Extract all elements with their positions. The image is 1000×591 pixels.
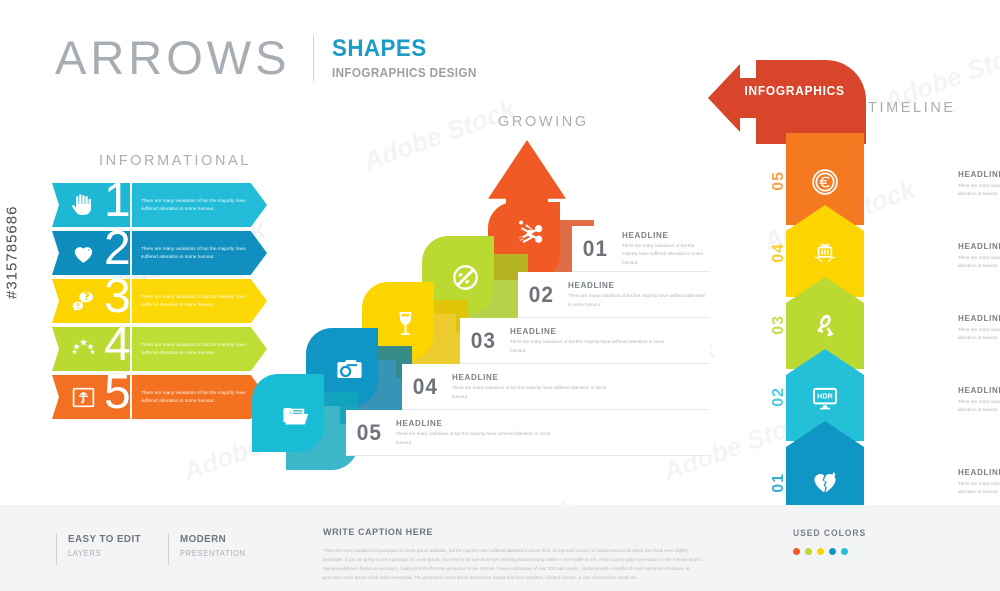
informational-row-number: 2 — [104, 225, 130, 273]
section-title-growing: GROWING — [498, 114, 589, 130]
footer-item-title: MODERN — [180, 533, 246, 545]
informational-row[interactable]: There are many variations of but the maj… — [52, 375, 267, 419]
heart-icon — [70, 240, 96, 266]
page-header: ARROWS SHAPES INFOGRAPHICS DESIGN — [55, 34, 492, 81]
growing-step-text: HEADLINEThere are many variations of but… — [622, 230, 710, 266]
euro-coin-icon — [810, 167, 840, 197]
timeline-arrow-number: 04 — [770, 243, 788, 263]
timeline-text-block: HEADLINEThere are many variations of but… — [958, 241, 1000, 271]
informational-row-text: There are many variations of but the maj… — [132, 293, 267, 309]
timeline-hook-arrow: INFOGRAPHICS — [708, 60, 866, 144]
hdr-monitor-icon: HDR — [810, 383, 840, 413]
informational-row[interactable]: There are many variations of but the maj… — [52, 231, 267, 275]
footer-item-easy-to-edit: EASY TO EDIT LAYERS — [68, 533, 147, 558]
informational-row-text: There are many variations of but the maj… — [132, 197, 267, 213]
footer-item-title: EASY TO EDIT — [68, 533, 141, 545]
informational-row-number: 5 — [104, 369, 130, 417]
informational-row-text: There are many variations of but the maj… — [132, 341, 267, 357]
infographic-canvas: Adobe Stock Adobe Stock Adobe Stock Adob… — [0, 0, 1000, 591]
footer-divider — [56, 533, 57, 565]
growing-step-headline: HEADLINE — [568, 280, 703, 290]
growing-step-panel: 02HEADLINEThere are many variations of b… — [518, 272, 710, 318]
camera-icon — [334, 354, 364, 384]
informational-row[interactable]: There are many variations of but the maj… — [52, 183, 267, 227]
growing-step-panel: 04HEADLINEThere are many variations of b… — [402, 364, 710, 410]
footer-item-sub: PRESENTATION — [180, 549, 246, 558]
color-swatch — [793, 548, 800, 555]
footer-divider — [168, 533, 169, 565]
timeline-text-block: HEADLINEThere are many variations of but… — [958, 467, 1000, 497]
growing-step-panel: 01HEADLINEThere are many variations of b… — [572, 226, 710, 272]
timeline-desc: There are many variations of but the maj… — [958, 398, 1000, 415]
growing-step-headline: HEADLINE — [396, 418, 548, 428]
file-folder-icon — [280, 400, 310, 430]
growing-step-text: HEADLINEThere are many variations of but… — [452, 372, 612, 400]
growing-step-desc: There are many variations of but the maj… — [510, 338, 670, 354]
growing-step-panel: 05HEADLINEThere are many variations of b… — [346, 410, 710, 456]
calendar-kanji-icon — [70, 384, 96, 410]
timeline-section: INFOGRAPHICS05HEADLINEThere are many var… — [700, 55, 1000, 475]
footer-caption: WRITE CAPTION HERE There are many variat… — [323, 527, 703, 582]
used-colors-block: USED COLORS — [793, 528, 870, 555]
watermark-image-id: #315785686 — [0, 0, 25, 505]
informational-row-text: There are many variations of but the maj… — [132, 245, 267, 261]
informational-row[interactable]: There are many variations of but the maj… — [52, 279, 267, 323]
growing-step-number: 02 — [529, 282, 559, 308]
used-colors-title: USED COLORS — [793, 528, 866, 538]
growing-step-headline: HEADLINE — [510, 326, 662, 336]
gift-box-icon — [810, 239, 840, 269]
timeline-headline: HEADLINE — [958, 313, 1000, 323]
color-swatch — [841, 548, 848, 555]
growing-step-text: HEADLINEThere are many variations of but… — [568, 280, 710, 308]
growing-step-desc: There are many variations of but the maj… — [622, 242, 710, 266]
section-title-informational: INFORMATIONAL — [99, 153, 251, 169]
timeline-arrow-number: 01 — [770, 473, 788, 493]
growing-step-number: 03 — [471, 328, 501, 354]
wine-glass-icon — [390, 308, 420, 338]
timeline-headline: HEADLINE — [958, 241, 1000, 251]
footer: EASY TO EDIT LAYERS MODERN PRESENTATION … — [0, 505, 1000, 591]
stars-icon — [70, 336, 96, 362]
growing-step-number: 05 — [357, 420, 387, 446]
growing-step-headline: HEADLINE — [452, 372, 604, 382]
informational-row-text: There are many variations of but the maj… — [132, 389, 267, 405]
timeline-desc: There are many variations of but the maj… — [958, 182, 1000, 199]
ribbon-icon — [810, 311, 840, 341]
timeline-arrow-number: 05 — [770, 171, 788, 191]
footer-item-sub: LAYERS — [68, 549, 141, 558]
growing-step-desc: There are many variations of but the maj… — [396, 430, 556, 446]
timeline-text-block: HEADLINEThere are many variations of but… — [958, 313, 1000, 343]
timeline-desc: There are many variations of but the maj… — [958, 326, 1000, 343]
informational-row-body: There are many variations of but the maj… — [132, 279, 267, 323]
timeline-headline: HEADLINE — [958, 467, 1000, 477]
growing-step-number: 01 — [583, 236, 613, 262]
svg-text:HDR: HDR — [817, 391, 833, 400]
header-divider — [313, 35, 314, 81]
timeline-hook-label: INFOGRAPHICS — [745, 84, 840, 98]
informational-row-number: 1 — [104, 177, 130, 225]
color-swatch — [829, 548, 836, 555]
timeline-arrow-number: 03 — [770, 315, 788, 335]
timeline-arrow-number: 02 — [770, 387, 788, 407]
caption-body: There are many variations of passages of… — [323, 546, 703, 582]
growing-step-desc: There are many variations of but the maj… — [568, 292, 710, 308]
growing-step-desc: There are many variations of but the maj… — [452, 384, 612, 400]
timeline-headline: HEADLINE — [958, 385, 1000, 395]
timeline-desc: There are many variations of but the maj… — [958, 254, 1000, 271]
informational-row[interactable]: There are many variations of but the maj… — [52, 327, 267, 371]
informational-row-body: There are many variations of but the maj… — [132, 231, 267, 275]
informational-row-number: 3 — [104, 273, 130, 321]
growing-step-panel: 03HEADLINEThere are many variations of b… — [460, 318, 710, 364]
informational-section: There are many variations of but the maj… — [52, 183, 267, 423]
growing-step-number: 04 — [413, 374, 443, 400]
header-design-label: INFOGRAPHICS DESIGN — [332, 66, 477, 79]
header-shapes-label: SHAPES — [332, 37, 481, 61]
footer-item-modern: MODERN PRESENTATION — [180, 533, 251, 558]
header-subtitle-group: SHAPES INFOGRAPHICS DESIGN — [332, 37, 493, 79]
informational-row-body: There are many variations of but the maj… — [132, 183, 267, 227]
hand-icon — [70, 192, 96, 218]
question-bubbles-icon — [70, 288, 96, 314]
informational-row-number: 4 — [104, 321, 130, 369]
timeline-desc: There are many variations of but the maj… — [958, 480, 1000, 497]
timeline-headline: HEADLINE — [958, 169, 1000, 179]
color-swatch — [817, 548, 824, 555]
page-title: ARROWS — [55, 34, 291, 81]
informational-row-body: There are many variations of but the maj… — [132, 375, 267, 419]
used-colors-swatches — [793, 548, 870, 555]
color-swatch — [805, 548, 812, 555]
caption-title: WRITE CAPTION HERE — [323, 527, 684, 538]
growing-section: 01HEADLINEThere are many variations of b… — [300, 140, 710, 460]
timeline-text-block: HEADLINEThere are many variations of but… — [958, 385, 1000, 415]
growing-step-text: HEADLINEThere are many variations of but… — [510, 326, 670, 354]
scissors-icon — [514, 216, 544, 246]
no-food-icon — [450, 262, 480, 292]
growing-step-text: HEADLINEThere are many variations of but… — [396, 418, 556, 446]
broken-heart-icon — [810, 467, 840, 497]
informational-row-body: There are many variations of but the maj… — [132, 327, 267, 371]
growing-step-headline: HEADLINE — [622, 230, 706, 240]
timeline-text-block: HEADLINEThere are many variations of but… — [958, 169, 1000, 199]
